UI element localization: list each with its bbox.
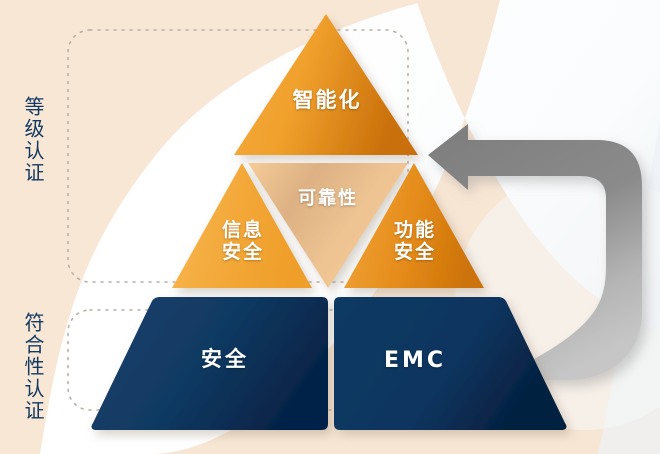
label-level-certification: 等级认证 [22,96,43,184]
diagram-canvas: 等级认证 符合性认证 智能化 可靠性 信息 安全 功能 安全 安全 EMC [0,0,660,454]
pyramid-block-emc[interactable] [334,297,566,430]
figure-layer [0,0,660,454]
label-compliance-certification: 符合性认证 [22,312,43,422]
pyramid-block-safety[interactable] [92,297,328,430]
pyramid-block-intelligence[interactable] [234,14,418,155]
